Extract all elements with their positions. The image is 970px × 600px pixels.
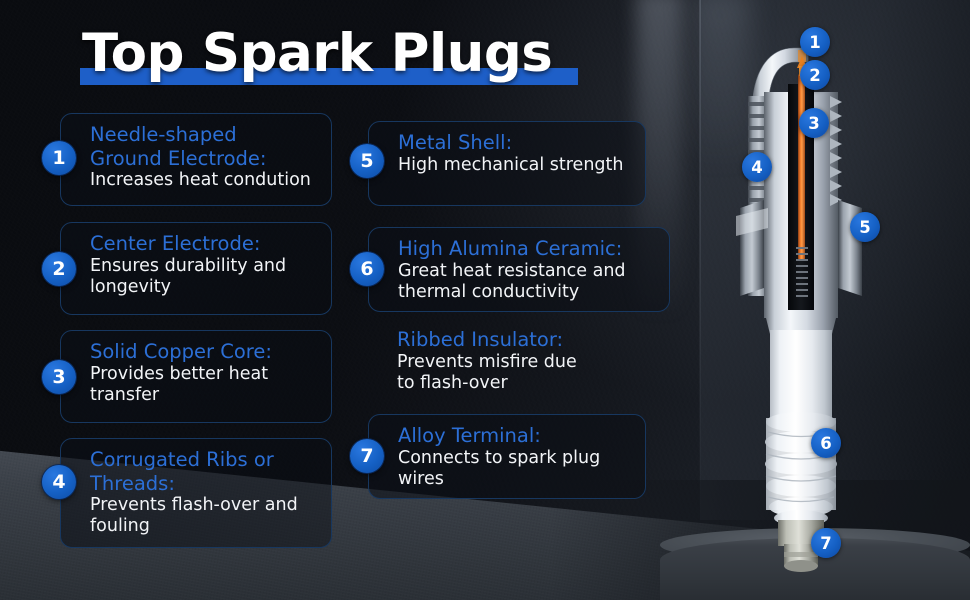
feature-card-6-desc: Great heat resistance and thermal conduc… xyxy=(398,261,659,303)
feature-badge-1[interactable]: 1 xyxy=(42,141,76,175)
diagram-callout-5[interactable]: 5 xyxy=(850,212,880,242)
feature-card-5-title: Metal Shell: xyxy=(398,131,635,155)
spark-plug-illustration xyxy=(706,18,896,578)
feature-card-2-title: Center Electrode: xyxy=(90,232,321,256)
insulator-body xyxy=(770,330,832,420)
feature-card-5[interactable]: Metal Shell: High mechanical strength xyxy=(368,121,646,206)
feature-card-ribbed-insulator-body: Ribbed Insulator: Prevents misfire due t… xyxy=(397,328,660,394)
diagram-callout-1[interactable]: 1 xyxy=(800,27,830,57)
feature-card-6-title: High Alumina Ceramic: xyxy=(398,237,659,261)
feature-card-7-desc: Connects to spark plug wires xyxy=(398,448,635,490)
feature-card-1-title: Needle-shaped Ground Electrode: xyxy=(90,123,321,170)
page-title: Top Spark Plugs xyxy=(80,24,600,94)
solid-copper-core-shape xyxy=(798,74,805,260)
feature-card-3[interactable]: Solid Copper Core: Provides better heat … xyxy=(60,330,332,423)
feature-card-ribbed-insulator-title: Ribbed Insulator: xyxy=(397,328,660,352)
feature-card-7[interactable]: Alloy Terminal: Connects to spark plug w… xyxy=(368,414,646,499)
feature-badge-5[interactable]: 5 xyxy=(350,144,384,178)
diagram-callout-6[interactable]: 6 xyxy=(811,428,841,458)
feature-card-3-title: Solid Copper Core: xyxy=(90,340,321,364)
page-title-text: Top Spark Plugs xyxy=(82,24,552,84)
feature-card-4[interactable]: Corrugated Ribs or Threads: Prevents fla… xyxy=(60,438,332,548)
diagram-callout-4[interactable]: 4 xyxy=(742,152,772,182)
feature-card-6-body: High Alumina Ceramic: Great heat resista… xyxy=(398,237,659,303)
feature-card-ribbed-insulator[interactable]: Ribbed Insulator: Prevents misfire due t… xyxy=(368,322,670,402)
feature-badge-3[interactable]: 3 xyxy=(42,360,76,394)
feature-card-2[interactable]: Center Electrode: Ensures durability and… xyxy=(60,222,332,315)
feature-card-6[interactable]: High Alumina Ceramic: Great heat resista… xyxy=(368,227,670,312)
feature-card-ribbed-insulator-desc: Prevents misfire due to flash-over xyxy=(397,352,660,394)
diagram-callout-7[interactable]: 7 xyxy=(811,528,841,558)
feature-card-2-body: Center Electrode: Ensures durability and… xyxy=(90,232,321,298)
feature-card-4-desc: Prevents flash-over and fouling xyxy=(90,495,321,537)
feature-card-7-body: Alloy Terminal: Connects to spark plug w… xyxy=(398,424,635,490)
feature-card-3-desc: Provides better heat transfer xyxy=(90,364,321,406)
feature-card-2-desc: Ensures durability and longevity xyxy=(90,256,321,298)
feature-card-1-body: Needle-shaped Ground Electrode: Increase… xyxy=(90,123,321,191)
diagram-callout-3[interactable]: 3 xyxy=(799,108,829,138)
feature-card-3-body: Solid Copper Core: Provides better heat … xyxy=(90,340,321,406)
feature-card-4-body: Corrugated Ribs or Threads: Prevents fla… xyxy=(90,448,321,537)
feature-badge-6[interactable]: 6 xyxy=(350,252,384,286)
feature-badge-2[interactable]: 2 xyxy=(42,252,76,286)
diagram-callout-2[interactable]: 2 xyxy=(800,60,830,90)
feature-card-5-desc: High mechanical strength xyxy=(398,155,635,176)
feature-card-4-title: Corrugated Ribs or Threads: xyxy=(90,448,321,495)
feature-card-1-desc: Increases heat condution xyxy=(90,170,321,191)
feature-card-7-title: Alloy Terminal: xyxy=(398,424,635,448)
feature-card-5-body: Metal Shell: High mechanical strength xyxy=(398,131,635,176)
feature-card-1[interactable]: Needle-shaped Ground Electrode: Increase… xyxy=(60,113,332,206)
feature-badge-7[interactable]: 7 xyxy=(350,439,384,473)
feature-badge-4[interactable]: 4 xyxy=(42,465,76,499)
